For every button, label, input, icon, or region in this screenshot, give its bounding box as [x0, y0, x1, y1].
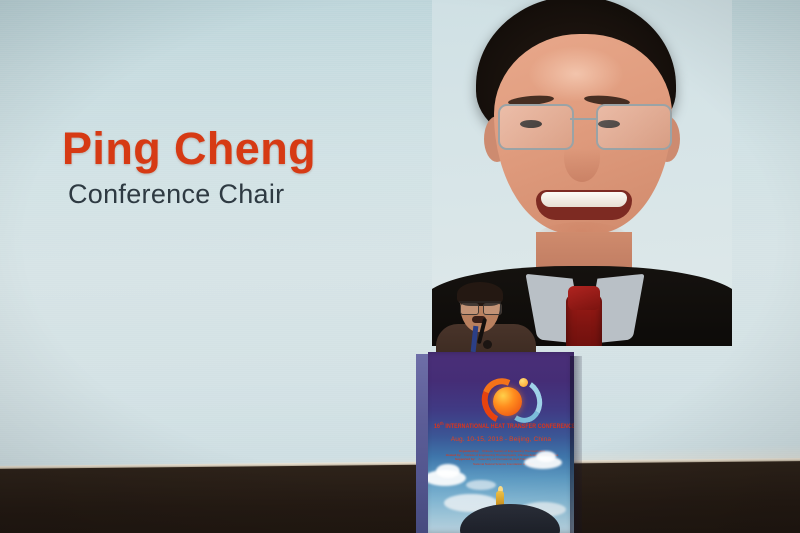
portrait-nose — [564, 134, 600, 182]
portrait-teeth — [541, 192, 627, 207]
live-speaker-glasses — [459, 301, 501, 314]
conference-title-text: INTERNATIONAL HEAT TRANSFER CONFERENCE — [445, 423, 574, 430]
portrait-lens-right — [596, 104, 672, 150]
slide-speaker-name: Ping Cheng — [62, 126, 316, 171]
live-speaker-lens-right — [483, 303, 502, 315]
cloud — [436, 464, 460, 478]
conference-date-location: Aug. 10-15, 2018 - Beijing, China — [434, 436, 568, 443]
cloud — [536, 451, 556, 462]
live-speaker-lens-left — [460, 303, 479, 315]
slide-speaker-role: Conference Chair — [68, 181, 316, 208]
portrait-lens-left — [498, 104, 574, 150]
portrait-smiling-mouth — [536, 190, 632, 220]
conference-logo-icon — [478, 370, 536, 422]
conference-photo-scene: Ping Cheng Conference Chair 16th — [0, 0, 800, 533]
slide-caption-block: Ping Cheng Conference Chair — [62, 126, 316, 208]
podium: 16th INTERNATIONAL HEAT TRANSFER CONFERE… — [416, 348, 586, 533]
podium-edge-shadow — [570, 356, 582, 533]
cloud — [466, 480, 496, 490]
portrait-forehead-highlight — [528, 46, 624, 102]
logo-sphere — [493, 387, 522, 416]
foreground-dark-band — [0, 460, 800, 533]
conference-title: 16th INTERNATIONAL HEAT TRANSFER CONFERE… — [434, 421, 568, 430]
portrait-necktie-knot — [568, 286, 600, 310]
podium-front-panel: 16th INTERNATIONAL HEAT TRANSFER CONFERE… — [428, 352, 574, 533]
projection-screen-slide: Ping Cheng Conference Chair — [0, 0, 800, 474]
conference-title-ordinal-suffix: th — [440, 421, 444, 426]
portrait-glasses-bridge — [570, 118, 596, 120]
logo-orbit-dot — [519, 378, 528, 387]
